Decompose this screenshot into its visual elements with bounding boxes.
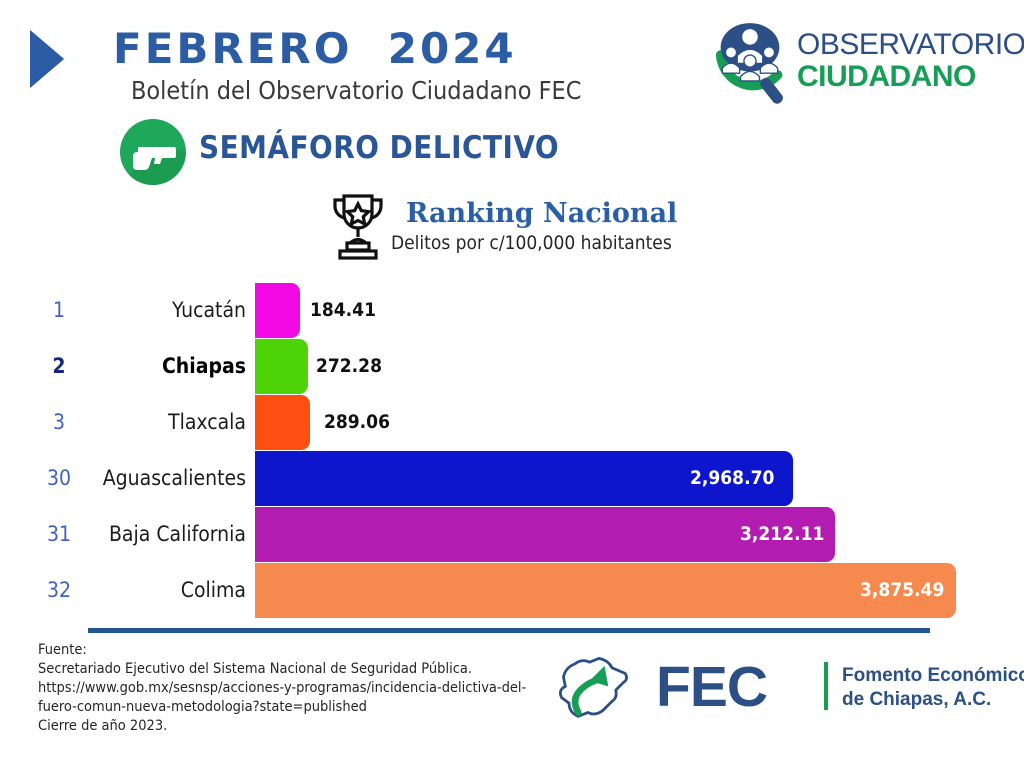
bar-value-label: 3,875.49 xyxy=(860,563,944,618)
bar-value-label: 2,968.70 xyxy=(690,451,774,506)
semaforo-delictivo-label: SEMÁFORO DELICTIVO xyxy=(199,130,559,166)
fec-acronym: FEC xyxy=(656,656,767,718)
state-label: Colima xyxy=(86,563,246,618)
table-row: 30 Aguascalientes 2,968.70 xyxy=(0,451,1024,506)
state-label: Tlaxcala xyxy=(86,395,246,450)
bar-chiapas xyxy=(255,339,308,394)
observatorio-logo: OBSERVATORIO CIUDADANO xyxy=(712,10,1012,122)
rank-number: 3 xyxy=(36,395,82,450)
chiapas-map-arrow-icon xyxy=(556,654,640,730)
fec-tagline-line1: Fomento Económico xyxy=(842,665,1024,687)
handgun-icon xyxy=(118,117,188,187)
ranking-title: Ranking Nacional xyxy=(406,198,677,229)
rank-number: 1 xyxy=(36,283,82,338)
fec-divider xyxy=(824,662,828,710)
ranking-bar-chart: 1 Yucatán 184.41 2 Chiapas 272.28 3 Tlax… xyxy=(0,283,1024,615)
bar-value-label: 184.41 xyxy=(310,283,376,338)
fec-tagline-line2: de Chiapas, A.C. xyxy=(842,689,991,711)
table-row: 32 Colima 3,875.49 xyxy=(0,563,1024,618)
footer-divider xyxy=(88,628,930,633)
source-text: Fuente: Secretariado Ejecutivo del Siste… xyxy=(38,641,558,736)
state-label: Yucatán xyxy=(86,283,246,338)
page-title: FEBRERO 2024 xyxy=(113,24,517,73)
bar-yucatan xyxy=(255,283,300,338)
table-row: 1 Yucatán 184.41 xyxy=(0,283,1024,338)
fec-logo: FEC Fomento Económico de Chiapas, A.C. xyxy=(556,652,996,742)
bar-value-label: 3,212.11 xyxy=(740,507,824,562)
table-row: 3 Tlaxcala 289.06 xyxy=(0,395,1024,450)
observatorio-logo-word1: OBSERVATORIO xyxy=(797,28,1024,62)
bar-tlaxcala xyxy=(255,395,310,450)
state-label: Chiapas xyxy=(86,339,246,394)
bar-value-label: 272.28 xyxy=(316,339,382,394)
page-subtitle: Boletín del Observatorio Ciudadano FEC xyxy=(131,76,581,105)
state-label: Baja California xyxy=(86,507,246,562)
table-row: 31 Baja California 3,212.11 xyxy=(0,507,1024,562)
magnifier-people-icon xyxy=(712,14,794,109)
ranking-subtitle: Delitos por c/100,000 habitantes xyxy=(391,232,672,254)
rank-number: 32 xyxy=(36,563,82,618)
table-row: 2 Chiapas 272.28 xyxy=(0,339,1024,394)
rank-number: 30 xyxy=(36,451,82,506)
observatorio-logo-word2: CIUDADANO xyxy=(797,60,976,94)
bar-value-label: 289.06 xyxy=(324,395,390,450)
chevron-right-icon xyxy=(28,28,96,90)
trophy-icon xyxy=(327,190,389,262)
rank-number: 2 xyxy=(36,339,82,394)
infographic-page: FEBRERO 2024 Boletín del Observatorio Ci… xyxy=(0,0,1024,768)
state-label: Aguascalientes xyxy=(86,451,246,506)
rank-number: 31 xyxy=(36,507,82,562)
bar-colima xyxy=(255,563,956,618)
